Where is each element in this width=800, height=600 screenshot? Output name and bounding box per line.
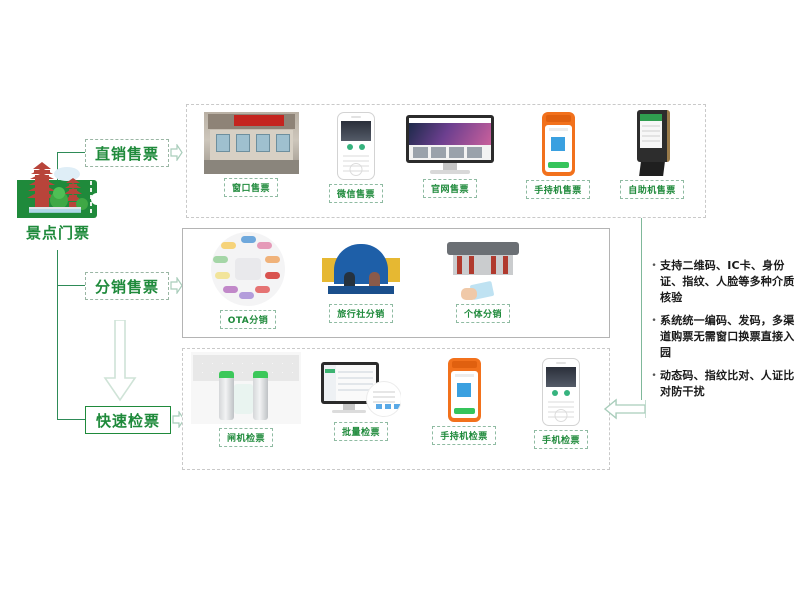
feature-item: • 系统统一编码、发码，多渠道购票无需窗口换票直接入园 xyxy=(648,313,796,361)
handheld-pos-terminal-icon xyxy=(448,358,481,422)
handheld-pos-terminal-icon xyxy=(542,112,575,176)
smartphone-scan-icon xyxy=(542,358,580,426)
channel-item-handheld-check[interactable]: 手持机检票 xyxy=(418,358,510,445)
channel-item-handheld-sales[interactable]: 手持机售票 xyxy=(510,112,606,199)
turnstile-gates-icon xyxy=(191,352,301,424)
channel-label-website: 官网售票 xyxy=(423,179,477,198)
channel-label-mobile-check: 手机检票 xyxy=(534,430,588,449)
feature-item: • 动态码、指纹比对、人证比对防干扰 xyxy=(648,368,796,400)
stage-label-inspection[interactable]: 快速检票 xyxy=(85,406,171,434)
channel-label-individual: 个体分销 xyxy=(456,304,510,323)
channel-label-window: 窗口售票 xyxy=(224,178,278,197)
channel-label-ota: OTA分销 xyxy=(220,310,277,329)
flow-down-arrow xyxy=(103,320,137,402)
channel-item-ota[interactable]: OTA分销 xyxy=(200,232,296,329)
channel-label-wechat: 微信售票 xyxy=(329,184,383,203)
channel-item-window[interactable]: 窗口售票 xyxy=(196,112,306,197)
diagram-canvas: 景点门票 直销售票 分销售票 快速检票 窗口售票 xyxy=(0,0,800,600)
bullet-icon: • xyxy=(648,258,660,306)
stage-label-direct[interactable]: 直销售票 xyxy=(85,139,169,167)
trunk-branch-distribution xyxy=(57,285,87,286)
source-node-scenic-ticket: 景点门票 xyxy=(8,160,108,243)
trunk-vertical-lower xyxy=(57,250,58,420)
bullet-icon: • xyxy=(648,313,660,361)
channel-item-kiosk[interactable]: 自助机售票 xyxy=(604,110,700,199)
channel-label-handheld-check: 手持机检票 xyxy=(432,426,496,445)
individual-agent-temple-icon xyxy=(443,238,523,300)
channel-label-batch: 批量检票 xyxy=(334,422,388,441)
channel-item-individual[interactable]: 个体分销 xyxy=(438,238,528,323)
feature-text: 支持二维码、IC卡、身份证、指纹、人脸等多种介质核验 xyxy=(660,258,796,306)
batch-check-console-icon xyxy=(321,362,401,418)
bullet-icon: • xyxy=(648,368,660,400)
desktop-monitor-website-icon xyxy=(406,115,494,175)
feature-text: 系统统一编码、发码，多渠道购票无需窗口换票直接入园 xyxy=(660,313,796,361)
stage-arrow-direct xyxy=(170,144,183,161)
channel-item-turnstile[interactable]: 闸机检票 xyxy=(188,352,304,447)
feature-list: • 支持二维码、IC卡、身份证、指纹、人脸等多种介质核验 • 系统统一编码、发码… xyxy=(648,258,796,407)
stage-label-distribution[interactable]: 分销售票 xyxy=(85,272,169,300)
channel-item-wechat[interactable]: 微信售票 xyxy=(308,112,404,203)
travel-agency-counter-icon xyxy=(322,238,400,300)
trunk-branch-direct xyxy=(57,152,87,153)
channel-label-travel-agency: 旅行社分销 xyxy=(329,304,393,323)
ota-partner-wheel-icon xyxy=(211,232,285,306)
feature-text: 动态码、指纹比对、人证比对防干扰 xyxy=(660,368,796,400)
scenic-ticket-icon xyxy=(15,160,101,220)
trunk-branch-inspection xyxy=(57,419,87,420)
ticket-booth-photo-icon xyxy=(204,112,299,174)
feedback-arrow-left xyxy=(604,398,646,420)
smartphone-wechat-icon xyxy=(337,112,375,180)
channel-item-batch[interactable]: 批量检票 xyxy=(318,362,404,441)
channel-item-travel-agency[interactable]: 旅行社分销 xyxy=(315,238,407,323)
channel-label-turnstile: 闸机检票 xyxy=(219,428,273,447)
feedback-connector-vertical xyxy=(641,218,642,408)
channel-item-mobile-check[interactable]: 手机检票 xyxy=(516,358,606,449)
channel-label-handheld-sales: 手持机售票 xyxy=(526,180,590,199)
channel-item-website[interactable]: 官网售票 xyxy=(398,115,502,198)
feature-item: • 支持二维码、IC卡、身份证、指纹、人脸等多种介质核验 xyxy=(648,258,796,306)
source-node-label: 景点门票 xyxy=(8,222,108,243)
self-service-kiosk-icon xyxy=(633,110,671,176)
channel-label-kiosk: 自助机售票 xyxy=(620,180,684,199)
